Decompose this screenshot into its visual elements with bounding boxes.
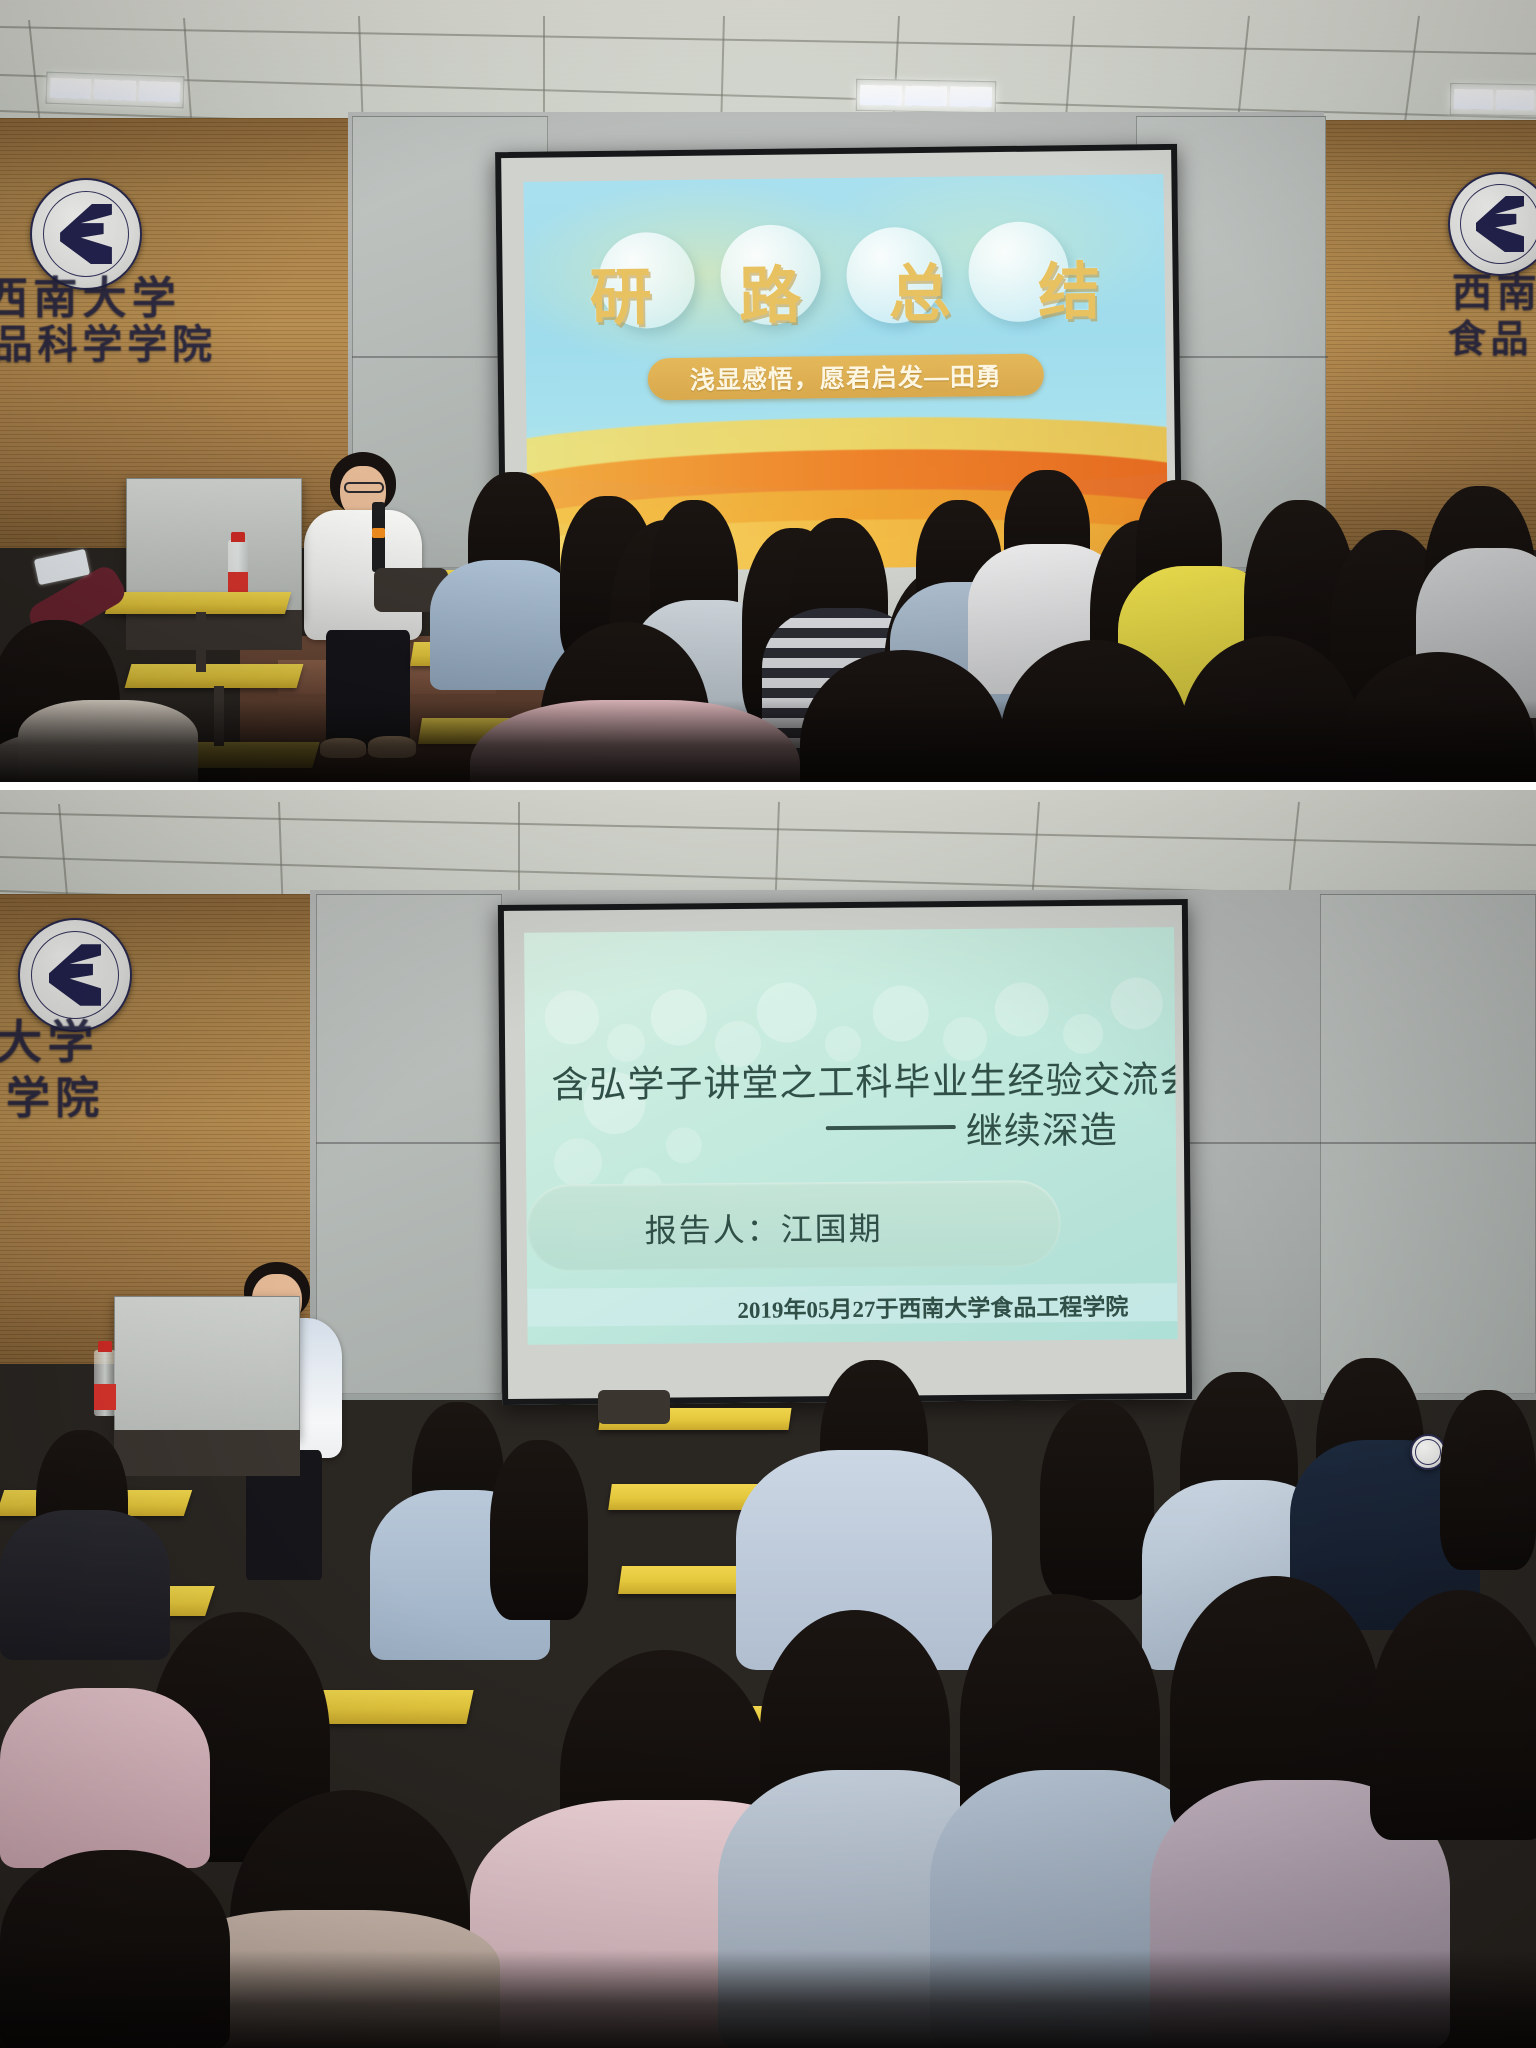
wall-panel <box>1320 894 1536 1394</box>
foreground-shadow <box>0 1950 1536 2048</box>
slide-graduate-forum: 含弘学子讲堂之工科毕业生经验交流会 继续深造 报告人：江国期 2019年05月2… <box>524 927 1178 1345</box>
foreground-shadow <box>0 700 1536 782</box>
slide-title: 研 路 总 结 <box>524 240 1165 338</box>
audience-head <box>1040 1400 1154 1600</box>
slide-em-dash <box>826 1125 956 1130</box>
desk-leg <box>196 612 206 672</box>
projection-screen-bottom: 含弘学子讲堂之工科毕业生经验交流会 继续深造 报告人：江国期 2019年05月2… <box>498 899 1192 1405</box>
ceiling-light-panel <box>1450 83 1536 117</box>
photo-top: 西南大学 食品科学学院 西南 食品 研 路 总 结 <box>0 0 1536 782</box>
bag <box>598 1390 670 1424</box>
slide-footer: 2019年05月27于西南大学食品工程学院 <box>737 1288 1128 1325</box>
wall-calligraphy-line2: 学院 <box>6 1062 105 1126</box>
slide-subtitle: 浅显感悟，愿君启发—田勇 <box>690 357 1002 397</box>
audience-foreground-head <box>1370 1590 1536 1840</box>
ceiling-light-panel <box>45 72 184 109</box>
ceiling-bottom <box>0 790 1536 902</box>
slide-subtitle-pill: 浅显感悟，愿君启发—田勇 <box>648 353 1044 400</box>
microphone <box>372 502 385 572</box>
audience-head <box>490 1440 588 1620</box>
wall-calligraphy-line2: 食品科学学院 <box>0 312 217 370</box>
audience-head <box>1440 1390 1536 1570</box>
podium <box>114 1296 300 1438</box>
cabinet-shadow <box>114 1430 300 1476</box>
ceiling-light-panel <box>856 79 997 113</box>
photo-bottom: 大学 学院 <box>0 790 1536 2048</box>
ceiling-top <box>0 0 1536 128</box>
slide-subheading: 继续深造 <box>966 1100 1118 1155</box>
slide-presenter: 报告人：江国期 <box>644 1204 882 1252</box>
photo-collage: 西南大学 食品科学学院 西南 食品 研 路 总 结 <box>0 0 1536 2048</box>
wall-calligraphy-right-line2: 食品 <box>1448 308 1533 363</box>
water-bottle <box>94 1350 116 1416</box>
speaker-glasses-icon <box>344 482 384 493</box>
audience-body <box>0 1688 210 1868</box>
audience-body <box>0 1510 170 1660</box>
